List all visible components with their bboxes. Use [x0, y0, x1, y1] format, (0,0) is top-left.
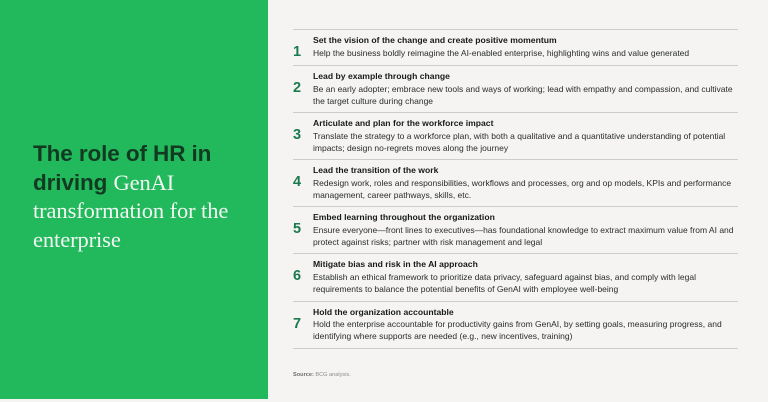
list-item-body: Articulate and plan for the workforce im… [312, 117, 738, 154]
list-item-title: Lead the transition of the work [313, 164, 738, 176]
list-item-description: Establish an ethical framework to priori… [313, 271, 738, 295]
list-item-body: Hold the organization accountable Hold t… [312, 306, 738, 343]
title-panel: The role of HR in driving GenAI transfor… [0, 0, 268, 399]
page-title: The role of HR in driving GenAI transfor… [33, 140, 255, 254]
content-panel: 1 Set the vision of the change and creat… [268, 0, 768, 402]
list-item: 4 Lead the transition of the work Redesi… [293, 159, 738, 206]
list-item: 7 Hold the organization accountable Hold… [293, 301, 738, 349]
list-item-body: Lead by example through change Be an ear… [312, 70, 738, 107]
list-item-description: Be an early adopter; embrace new tools a… [313, 83, 738, 107]
list-item-number: 4 [293, 164, 312, 190]
list-item-number: 7 [293, 306, 312, 332]
list-item: 6 Mitigate bias and risk in the AI appro… [293, 253, 738, 300]
list-item-title: Lead by example through change [313, 70, 738, 82]
list-item-body: Set the vision of the change and create … [312, 34, 738, 59]
source-text: BCG analysis. [314, 372, 351, 378]
list-item-description: Ensure everyone—front lines to executive… [313, 224, 738, 248]
list-item: 2 Lead by example through change Be an e… [293, 65, 738, 112]
list-item-description: Hold the enterprise accountable for prod… [313, 318, 738, 342]
list-item-number: 3 [293, 117, 312, 143]
list-item-number: 5 [293, 211, 312, 237]
list-item-number: 2 [293, 70, 312, 96]
list-item-number: 6 [293, 258, 312, 284]
source-label: Source: [293, 372, 314, 378]
list-item-description: Redesign work, roles and responsibilitie… [313, 177, 738, 201]
list-item-title: Set the vision of the change and create … [313, 34, 738, 46]
list-item: 1 Set the vision of the change and creat… [293, 29, 738, 65]
list-item-body: Mitigate bias and risk in the AI approac… [312, 258, 738, 295]
list-item: 5 Embed learning throughout the organiza… [293, 206, 738, 253]
recommendation-list: 1 Set the vision of the change and creat… [293, 29, 738, 349]
list-item: 3 Articulate and plan for the workforce … [293, 112, 738, 159]
list-item-body: Embed learning throughout the organizati… [312, 211, 738, 248]
list-item-title: Articulate and plan for the workforce im… [313, 117, 738, 129]
list-item-number: 1 [293, 34, 312, 60]
source-note: Source: BCG analysis. [293, 371, 351, 379]
list-item-description: Translate the strategy to a workforce pl… [313, 130, 738, 154]
list-item-body: Lead the transition of the work Redesign… [312, 164, 738, 201]
list-item-title: Hold the organization accountable [313, 306, 738, 318]
list-item-title: Mitigate bias and risk in the AI approac… [313, 258, 738, 270]
list-item-title: Embed learning throughout the organizati… [313, 211, 738, 223]
list-item-description: Help the business boldly reimagine the A… [313, 47, 738, 59]
slide-root: The role of HR in driving GenAI transfor… [0, 0, 768, 402]
